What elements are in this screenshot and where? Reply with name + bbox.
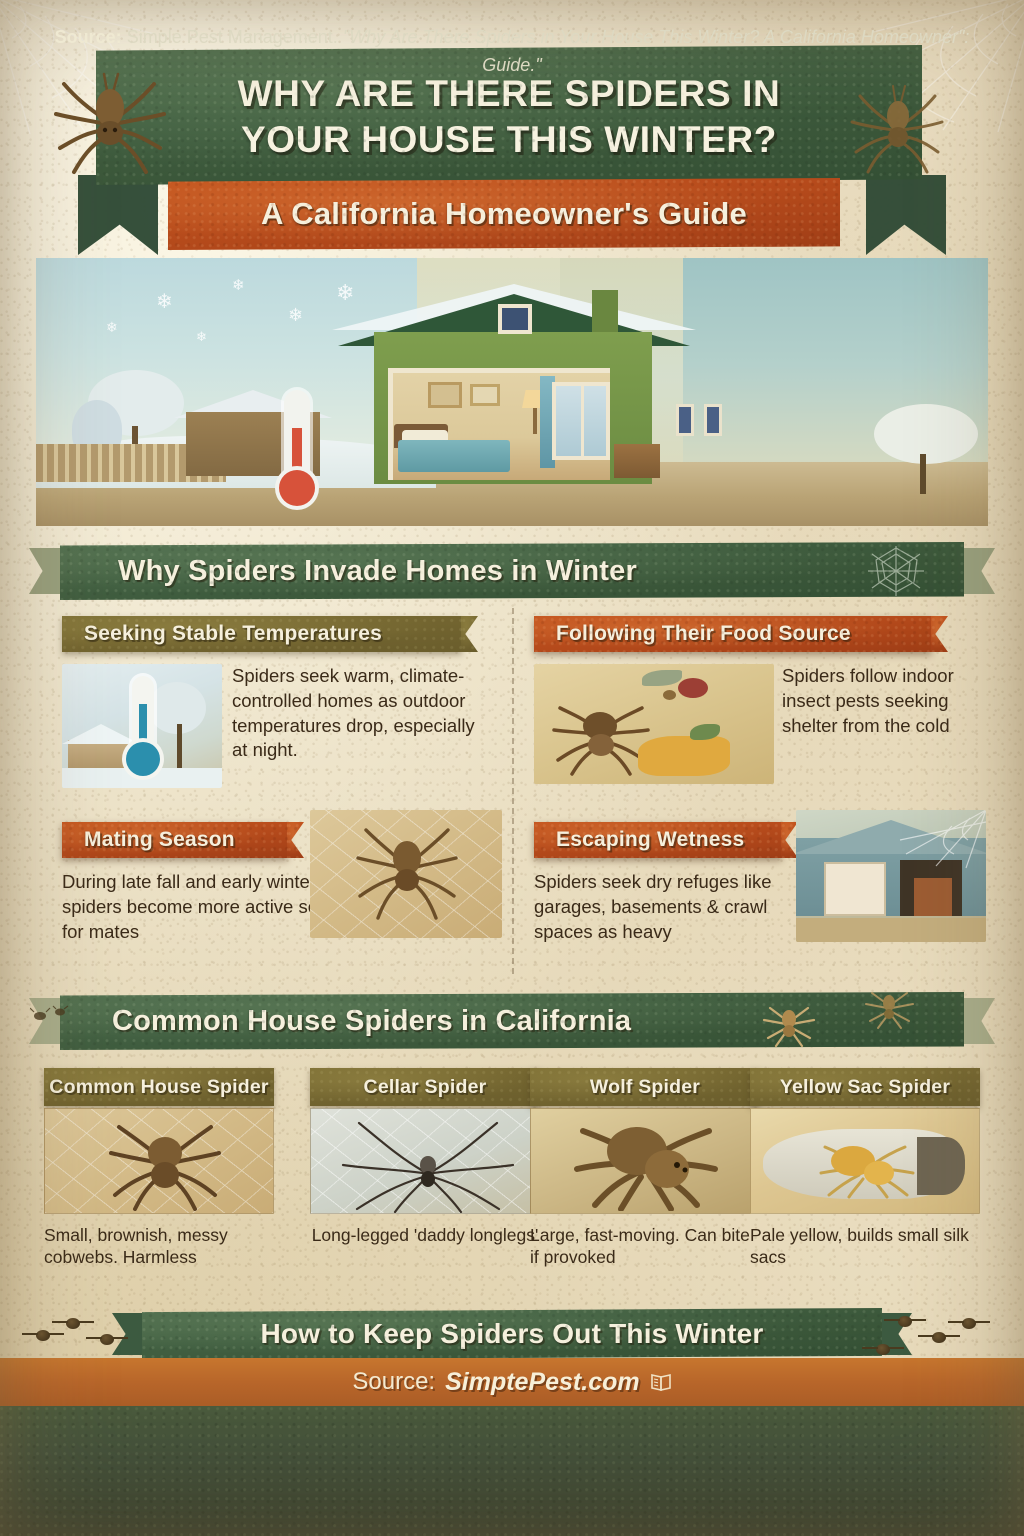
column-divider bbox=[512, 608, 514, 974]
species-name: Wolf Spider bbox=[590, 1076, 700, 1099]
reason-title-bar: Following Their Food Source bbox=[534, 616, 932, 652]
footer-source-title: "Why Are There Spiders in Your House Thi… bbox=[343, 27, 970, 75]
species-image-wolf-spider bbox=[530, 1108, 760, 1214]
footer bbox=[0, 1406, 1024, 1536]
species-name: Common House Spider bbox=[49, 1076, 268, 1099]
section-banner-tail-left bbox=[29, 548, 63, 594]
decorative-spider-icon-banner-2 bbox=[862, 986, 916, 1030]
reason-card-mating-season: Mating Season During late fall and early… bbox=[62, 822, 502, 944]
subtitle-banner: A California Homeowner's Guide bbox=[168, 178, 840, 250]
reason-card-escaping-wetness: Escaping Wetness Spiders seek dry refuge… bbox=[534, 822, 986, 944]
section-banner-label: Common House Spiders in California bbox=[112, 1005, 631, 1038]
species-image-common-house-spider bbox=[44, 1108, 274, 1214]
bug-icon-1 bbox=[36, 1330, 50, 1341]
reason-title-bar: Mating Season bbox=[62, 822, 288, 858]
infographic-page: WHY ARE THERE SPIDERS IN YOUR HOUSE THIS… bbox=[0, 0, 1024, 1536]
hero-winter-house-illustration: ❄ ❄ ❄ ❄ ❄ ❄ bbox=[36, 258, 988, 526]
footer-source-org: Simple Pest Management. bbox=[127, 27, 338, 47]
species-card-title-bar: Cellar Spider bbox=[310, 1068, 540, 1106]
page-subtitle: A California Homeowner's Guide bbox=[261, 196, 747, 232]
species-card-wolf-spider[interactable]: Wolf Spider Large, fast-moving. Can bite… bbox=[530, 1068, 760, 1269]
book-icon bbox=[650, 1372, 672, 1392]
species-name: Yellow Sac Spider bbox=[780, 1076, 950, 1099]
bug-icon-6 bbox=[962, 1318, 976, 1329]
decorative-spider-icon-left bbox=[48, 68, 168, 178]
reason-title: Seeking Stable Temperatures bbox=[84, 622, 382, 646]
source-bar: Source: SimptePest.com bbox=[0, 1358, 1024, 1406]
section-banner-label: Why Spiders Invade Homes in Winter bbox=[118, 555, 637, 588]
footer-citation: Source: Simple Pest Management. "Why Are… bbox=[52, 24, 972, 80]
reason-text: Spiders seek dry refuges like garages, b… bbox=[534, 870, 790, 944]
reason-card-following-their-food-source: Following Their Food Source bbox=[534, 616, 986, 784]
section-banner-tail-right-2 bbox=[961, 998, 995, 1044]
reason-text: Spiders seek warm, climate-controlled ho… bbox=[232, 664, 492, 788]
species-card-yellow-sac-spider[interactable]: Yellow Sac Spider Pale yellow, builds sm… bbox=[750, 1068, 980, 1269]
section-banner-why-spiders-invade: Why Spiders Invade Homes in Winter bbox=[60, 542, 964, 600]
banner-tail-right bbox=[866, 175, 946, 255]
reason-image-spider-on-web bbox=[310, 810, 502, 938]
reason-title-bar: Escaping Wetness bbox=[534, 822, 782, 858]
reason-title: Mating Season bbox=[84, 828, 235, 852]
species-card-common-house-spider[interactable]: Common House Spider Small, brownish, mes… bbox=[44, 1068, 274, 1269]
spider-web-icon bbox=[866, 544, 926, 598]
species-image-cellar-spider bbox=[310, 1108, 540, 1214]
species-image-yellow-sac-spider bbox=[750, 1108, 980, 1214]
decorative-ant-icons bbox=[30, 1004, 74, 1026]
bug-icon-4 bbox=[898, 1316, 912, 1327]
species-card-cellar-spider[interactable]: Cellar Spider Long-legged 'daddy longleg… bbox=[310, 1068, 540, 1246]
section-banner-tail-right bbox=[961, 548, 995, 594]
reason-title-bar: Seeking Stable Temperatures bbox=[62, 616, 462, 652]
bug-icon-2 bbox=[66, 1318, 80, 1329]
species-caption: Pale yellow, builds small silk sacs bbox=[750, 1224, 980, 1269]
banner-tail-left bbox=[78, 175, 158, 255]
reason-image-spider-and-prey bbox=[534, 664, 774, 784]
section-banner-tail-left-3 bbox=[112, 1313, 146, 1355]
decorative-spider-icon-right bbox=[846, 82, 946, 178]
species-caption: Large, fast-moving. Can bite if provoked bbox=[530, 1224, 760, 1269]
section-banner-common-house-spiders: Common House Spiders in California bbox=[60, 992, 964, 1050]
reason-title: Following Their Food Source bbox=[556, 622, 851, 646]
species-card-title-bar: Wolf Spider bbox=[530, 1068, 760, 1106]
source-site[interactable]: SimptePest.com bbox=[445, 1368, 640, 1397]
species-card-title-bar: Yellow Sac Spider bbox=[750, 1068, 980, 1106]
species-name: Cellar Spider bbox=[364, 1076, 487, 1099]
reason-title: Escaping Wetness bbox=[556, 828, 744, 852]
page-title-line-2: YOUR HOUSE THIS WINTER? bbox=[241, 119, 777, 161]
source-label: Source: bbox=[352, 1368, 435, 1396]
section-banner-label: How to Keep Spiders Out This Winter bbox=[260, 1318, 763, 1350]
reason-text: Spiders follow indoor insect pests seeki… bbox=[782, 664, 986, 784]
bug-icon-7 bbox=[876, 1344, 890, 1355]
species-card-title-bar: Common House Spider bbox=[44, 1068, 274, 1106]
species-caption: Small, brownish, messy cobwebs. Harmless bbox=[44, 1224, 274, 1269]
section-banner-how-to-keep-spiders-out: How to Keep Spiders Out This Winter bbox=[142, 1308, 882, 1360]
reason-card-seeking-stable-temperatures: Seeking Stable Temperatures Spiders seek… bbox=[62, 616, 492, 788]
footer-source-prefix: Source: bbox=[55, 27, 122, 47]
species-caption: Long-legged 'daddy longlegs' bbox=[310, 1224, 540, 1246]
reason-image-garage-exterior bbox=[796, 810, 986, 942]
reason-image-snowy-house-thermometer bbox=[62, 664, 222, 788]
decorative-spider-icon-banner-1 bbox=[758, 1000, 818, 1048]
bug-icon-5 bbox=[932, 1332, 946, 1343]
bug-icon-3 bbox=[100, 1334, 114, 1345]
